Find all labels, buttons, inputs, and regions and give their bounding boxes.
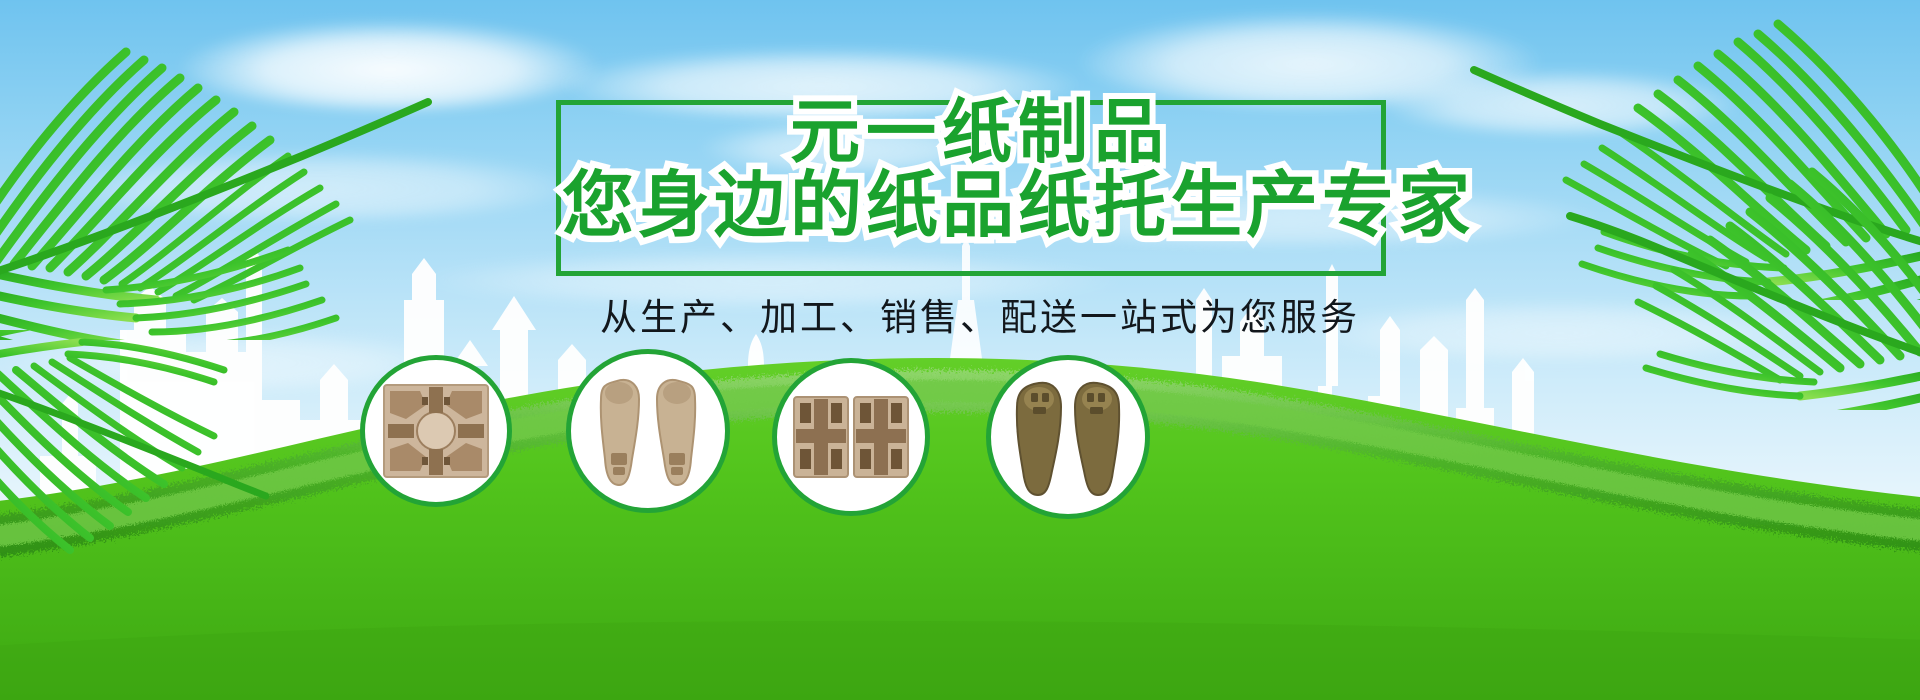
molded-pulp-corner-protector-pair-icon — [792, 389, 910, 485]
product-circle-2[interactable] — [566, 349, 730, 513]
product-circle-3[interactable] — [772, 358, 930, 516]
molded-pulp-shoe-tree-pair-icon — [1009, 373, 1127, 501]
molded-pulp-shoe-insert-pair-icon — [589, 367, 707, 495]
product-showcase — [0, 0, 1920, 700]
product-circle-1[interactable] — [360, 355, 512, 507]
promo-banner: 元一纸制品 您身边的纸品纸托生产专家 从生产、加工、销售、配送一站式为您服务 — [0, 0, 1920, 700]
product-circle-4[interactable] — [986, 355, 1150, 519]
molded-pulp-square-tray-icon — [380, 375, 492, 487]
